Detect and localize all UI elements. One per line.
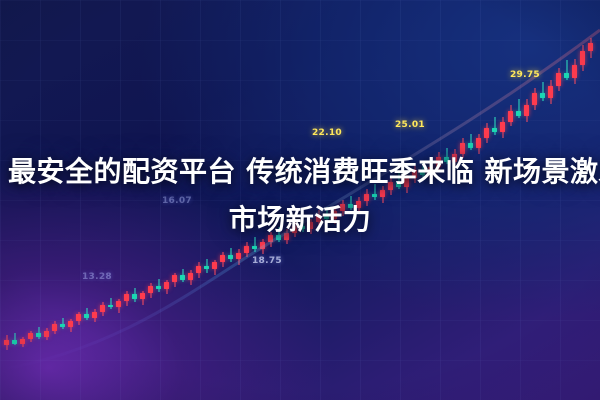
headline-overlay: 最安全的配资平台 传统消费旺季来临 新场景激发 市场新活力 [0,148,600,244]
price-label: 22.10 [312,128,342,138]
price-label: 18.75 [252,256,282,266]
headline-line-1: 最安全的配资平台 传统消费旺季来临 新场景激发 [8,148,592,196]
price-label: 29.75 [510,70,540,80]
price-label: 13.28 [82,272,112,282]
banner-image: 29.7525.0122.1018.7516.0713.28 最安全的配资平台 … [0,0,600,400]
headline-line-2: 市场新活力 [8,196,592,244]
price-label: 25.01 [395,120,425,130]
